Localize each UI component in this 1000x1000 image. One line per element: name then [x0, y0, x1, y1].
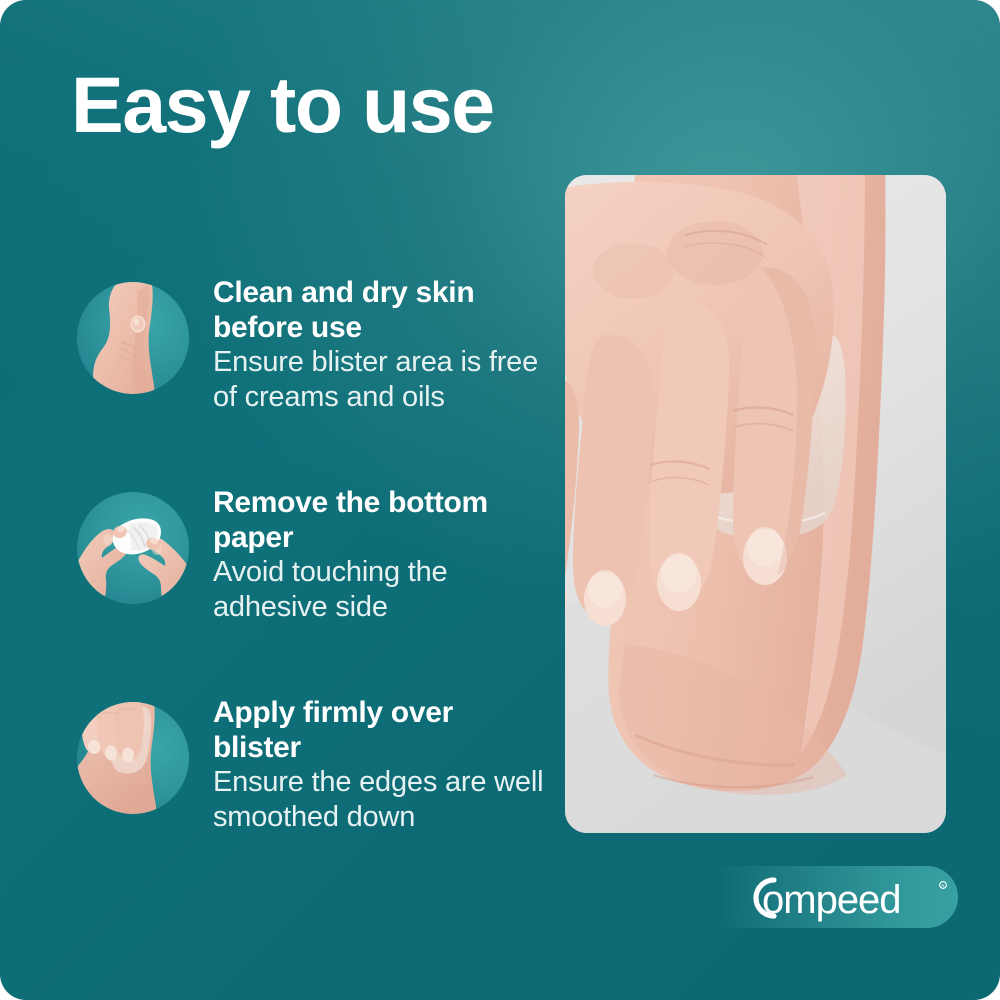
step-text: Clean and dry skin before use Ensure bli…: [213, 276, 547, 414]
hand-applying-plaster-to-heel-photo: [565, 175, 946, 833]
step-text: Remove the bottom paper Avoid touching t…: [213, 486, 547, 624]
list-item: Clean and dry skin before use Ensure bli…: [77, 276, 547, 426]
list-item: Apply firmly over blister Ensure the edg…: [77, 696, 547, 846]
page-title: Easy to use: [71, 62, 494, 148]
step-subtext: Ensure the edges are well smoothed down: [213, 765, 547, 834]
step-subtext: Avoid touching the adhesive side: [213, 555, 547, 624]
hand-pressing-plaster-icon: [77, 702, 189, 814]
step-heading: Remove the bottom paper: [213, 486, 547, 555]
brand-logo: ompeed R: [700, 866, 958, 938]
heel-with-blister-icon: [77, 282, 189, 394]
svg-text:ompeed: ompeed: [762, 878, 901, 922]
list-item: Remove the bottom paper Avoid touching t…: [77, 486, 547, 636]
svg-text:R: R: [941, 883, 944, 888]
step-subtext: Ensure blister area is free of creams an…: [213, 345, 547, 414]
step-heading: Clean and dry skin before use: [213, 276, 547, 345]
poster-canvas: Easy to use: [0, 0, 1000, 1000]
hands-peeling-plaster-icon: [77, 492, 189, 604]
compeed-wordmark: ompeed R: [738, 872, 958, 924]
steps-list: Clean and dry skin before use Ensure bli…: [77, 276, 547, 846]
step-heading: Apply firmly over blister: [213, 696, 547, 765]
step-text: Apply firmly over blister Ensure the edg…: [213, 696, 547, 834]
